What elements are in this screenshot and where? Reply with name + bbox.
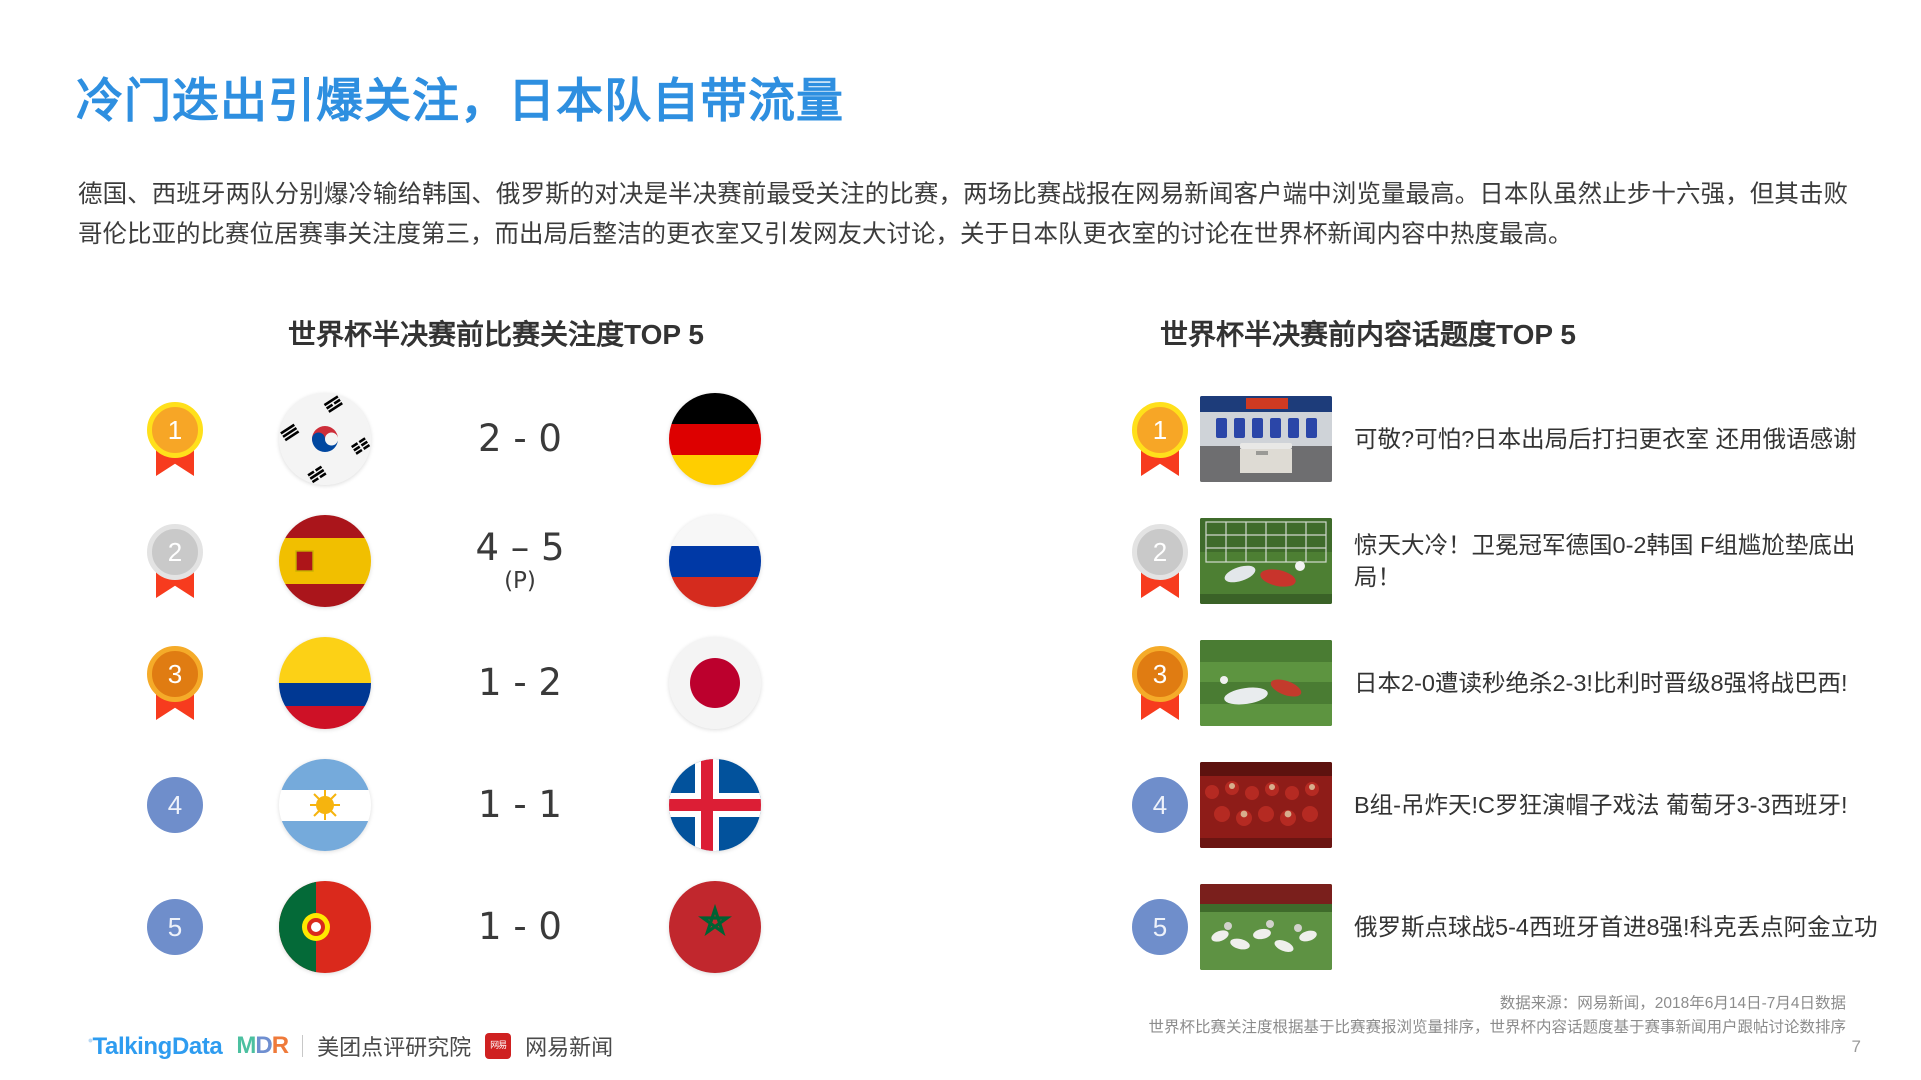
mdr-logo-r: R — [272, 1032, 288, 1059]
list-item[interactable]: 3 日本2-0遭读秒绝杀2-3!比利时晋级8强将战巴西! — [1120, 622, 1880, 744]
flag-left — [230, 759, 420, 851]
rank-cell: 4 — [120, 777, 230, 833]
rank-number: 1 — [147, 402, 203, 458]
match-score: 2 - 0 — [420, 420, 620, 459]
match-score: 1 - 1 — [420, 786, 620, 825]
rank-cell: 3 — [120, 646, 230, 720]
topic-title: 惊天大冷！卫冕冠军德国0-2韩国 F组尴尬垫底出局！ — [1332, 529, 1880, 593]
rank-badge: 4 — [1132, 777, 1188, 833]
locker-room-photo — [1200, 396, 1332, 482]
rank-badge: 5 — [147, 899, 203, 955]
rank-cell: 5 — [1120, 899, 1200, 955]
topic-title: 俄罗斯点球战5-4西班牙首进8强!科克丢点阿金立功 — [1332, 911, 1880, 943]
flag-portugal-icon — [279, 881, 371, 973]
medal-silver-icon: 2 — [147, 524, 203, 598]
match-score: 1 - 0 — [420, 908, 620, 947]
topic-title: B组-吊炸天!C罗狂演帽子戏法 葡萄牙3-3西班牙! — [1332, 789, 1880, 821]
flag-morocco-icon — [669, 881, 761, 973]
source-note: 数据来源：网易新闻，2018年6月14日-7月4日数据 世界杯比赛关注度根据基于… — [1148, 992, 1846, 1040]
flag-right — [620, 759, 810, 851]
flag-spain-icon — [279, 515, 371, 607]
mdr-logo-d: D — [255, 1032, 271, 1059]
medal-bronze-icon: 3 — [147, 646, 203, 720]
medal-gold-icon: 1 — [147, 402, 203, 476]
score-text: 1 - 1 — [478, 783, 562, 826]
logo-divider — [302, 1035, 303, 1057]
rank-number: 3 — [147, 646, 203, 702]
rank-cell: 2 — [1120, 524, 1200, 598]
match-score: 1 - 2 — [420, 664, 620, 703]
logo-bar: •TalkingData MDR 美团点评研究院 网易 网易新闻 — [88, 1030, 613, 1062]
topic-ranking-list: 1 — [1120, 378, 1880, 988]
slide-page: 冷门迭出引爆关注，日本队自带流量 德国、西班牙两队分别爆冷输给韩国、俄罗斯的对决… — [0, 0, 1921, 1080]
flag-right — [620, 881, 810, 973]
rank-number: 2 — [147, 524, 203, 580]
score-text: 4 – 5 — [475, 526, 564, 569]
rank-number: 1 — [1132, 402, 1188, 458]
rank-number: 2 — [1132, 524, 1188, 580]
rank-badge: 4 — [147, 777, 203, 833]
rank-cell: 3 — [1120, 646, 1200, 720]
rank-cell: 4 — [1120, 777, 1200, 833]
rank-number: 4 — [168, 790, 182, 821]
medal-bronze-icon: 3 — [1132, 646, 1188, 720]
intro-paragraph: 德国、西班牙两队分别爆冷输给韩国、俄罗斯的对决是半决赛前最受关注的比赛，两场比赛… — [78, 175, 1848, 255]
rank-number: 4 — [1153, 790, 1167, 821]
list-item[interactable]: 5 — [1120, 866, 1880, 988]
topic-title: 可敬?可怕?日本出局后打扫更衣室 还用俄语感谢 — [1332, 423, 1880, 455]
table-row[interactable]: 5 1 - 0 — [120, 866, 880, 988]
source-line-1: 数据来源：网易新闻，2018年6月14日-7月4日数据 — [1148, 992, 1846, 1016]
rank-cell: 1 — [120, 402, 230, 476]
flag-iceland-icon — [669, 759, 761, 851]
rank-number: 3 — [1132, 646, 1188, 702]
topic-title: 日本2-0遭读秒绝杀2-3!比利时晋级8强将战巴西! — [1332, 667, 1880, 699]
netease-badge-icon: 网易 — [485, 1033, 511, 1059]
netease-news-logo-text: 网易新闻 — [525, 1030, 613, 1062]
flag-left — [230, 515, 420, 607]
flag-russia-icon — [669, 515, 761, 607]
page-number: 7 — [1852, 1037, 1861, 1057]
rank-cell: 2 — [120, 524, 230, 598]
list-item[interactable]: 4 — [1120, 744, 1880, 866]
mdr-logo: MDR — [236, 1032, 288, 1060]
list-item[interactable]: 2 — [1120, 500, 1880, 622]
talkingdata-logo: •TalkingData — [88, 1032, 222, 1061]
flag-south-korea-icon — [279, 393, 371, 485]
talkingdata-logo-text: TalkingData — [93, 1033, 223, 1060]
flag-right — [620, 515, 810, 607]
flag-left — [230, 637, 420, 729]
penalty-note: (P) — [420, 569, 620, 593]
flag-left — [230, 393, 420, 485]
rank-number: 5 — [168, 912, 182, 943]
rank-number: 5 — [1153, 912, 1167, 943]
medal-gold-icon: 1 — [1132, 402, 1188, 476]
score-text: 1 - 2 — [478, 661, 562, 704]
score-text: 1 - 0 — [478, 905, 562, 948]
flag-japan-icon — [669, 637, 761, 729]
page-title: 冷门迭出引爆关注，日本队自带流量 — [76, 62, 844, 131]
rank-cell: 5 — [120, 899, 230, 955]
rank-cell: 1 — [1120, 402, 1200, 476]
right-section-heading: 世界杯半决赛前内容话题度TOP 5 — [1160, 313, 1576, 353]
meituan-research-logo-text: 美团点评研究院 — [317, 1030, 471, 1062]
table-row[interactable]: 4 1 - 1 — [120, 744, 880, 866]
goal-save-photo — [1200, 518, 1332, 604]
flag-right — [620, 393, 810, 485]
pitch-players-photo — [1200, 640, 1332, 726]
crowd-red-photo — [1200, 762, 1332, 848]
source-line-2: 世界杯比赛关注度根据基于比赛赛报浏览量排序，世界杯内容话题度基于赛事新闻用户跟帖… — [1148, 1016, 1846, 1040]
list-item[interactable]: 1 — [1120, 378, 1880, 500]
table-row[interactable]: 3 1 - 2 — [120, 622, 880, 744]
mdr-logo-m: M — [236, 1032, 255, 1059]
score-text: 2 - 0 — [478, 417, 562, 460]
flag-argentina-icon — [279, 759, 371, 851]
table-row[interactable]: 1 — [120, 378, 880, 500]
left-section-heading: 世界杯半决赛前比赛关注度TOP 5 — [288, 313, 704, 353]
table-row[interactable]: 2 4 – 5 (P) — [120, 500, 880, 622]
match-ranking-list: 1 — [120, 378, 880, 988]
celebration-photo — [1200, 884, 1332, 970]
flag-germany-icon — [669, 393, 761, 485]
flag-right — [620, 637, 810, 729]
rank-badge: 5 — [1132, 899, 1188, 955]
flag-left — [230, 881, 420, 973]
medal-silver-icon: 2 — [1132, 524, 1188, 598]
match-score: 4 – 5 (P) — [420, 529, 620, 594]
flag-colombia-icon — [279, 637, 371, 729]
